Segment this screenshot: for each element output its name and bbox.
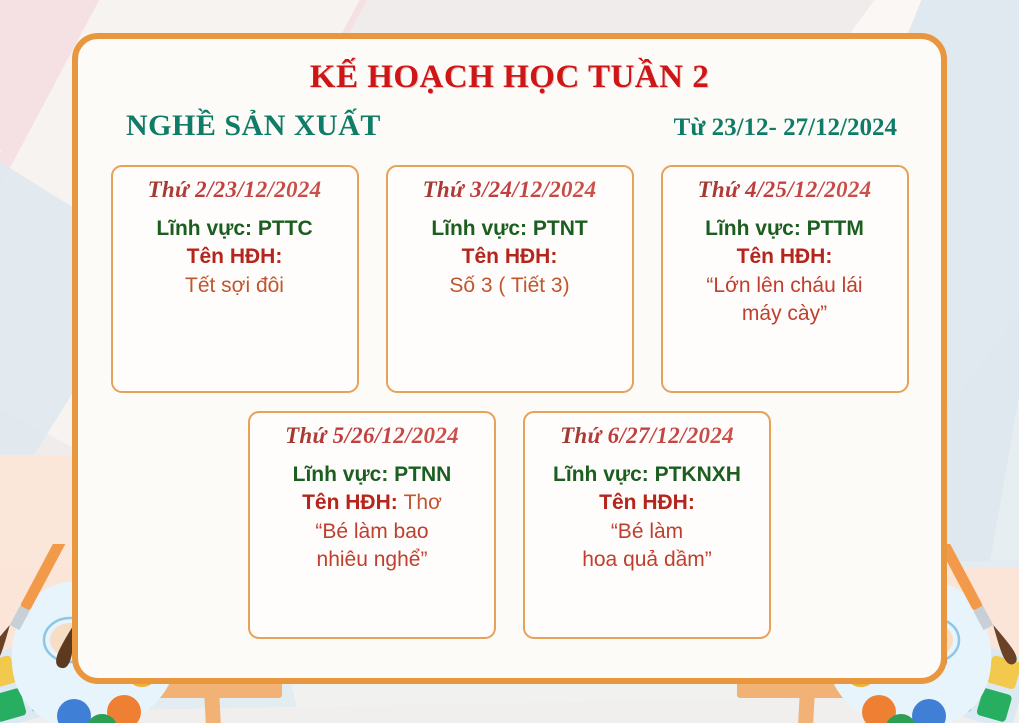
- poster-canvas: KẾ HOẠCH HỌC TUẦN 2 NGHỀ SẢN XUẤT Từ 23/…: [0, 0, 1019, 723]
- card-field-line: Lĩnh vực: PTTM: [673, 215, 897, 243]
- page-title: KẾ HOẠCH HỌC TUẦN 2: [78, 59, 941, 96]
- date-range: Từ 23/12- 27/12/2024: [674, 114, 897, 142]
- card-field-line: Lĩnh vực: PTTC: [123, 215, 347, 243]
- card-activity-label-text: Tên HĐH:: [302, 491, 398, 514]
- card-field-line: Lĩnh vực: PTKNXH: [535, 461, 759, 489]
- card-date: Thứ 3/24/12/2024: [398, 177, 622, 203]
- header-subline: NGHỀ SẢN XUẤT Từ 23/12- 27/12/2024: [78, 96, 941, 143]
- card-activity-label: Tên HĐH: Thơ: [260, 489, 484, 517]
- day-card-row-top: Thứ 2/23/12/2024 Lĩnh vực: PTTC Tên HĐH:…: [78, 165, 941, 393]
- day-card[interactable]: Thứ 3/24/12/2024 Lĩnh vực: PTNT Tên HĐH:…: [386, 165, 634, 393]
- card-activity-line: “Bé làm bao: [260, 518, 484, 546]
- card-field-line: Lĩnh vực: PTNN: [260, 461, 484, 489]
- card-field-line: Lĩnh vực: PTNT: [398, 215, 622, 243]
- day-card[interactable]: Thứ 5/26/12/2024 Lĩnh vực: PTNN Tên HĐH:…: [248, 411, 496, 639]
- card-activity-line: hoa quả dầm”: [535, 546, 759, 574]
- card-activity-line: Số 3 ( Tiết 3): [398, 272, 622, 300]
- card-activity-label: Tên HĐH:: [673, 243, 897, 271]
- plan-board: KẾ HOẠCH HỌC TUẦN 2 NGHỀ SẢN XUẤT Từ 23/…: [72, 33, 947, 684]
- subject-name: NGHỀ SẢN XUẤT: [126, 109, 381, 143]
- card-activity-line: Tết sợi đôi: [123, 272, 347, 300]
- day-card[interactable]: Thứ 6/27/12/2024 Lĩnh vực: PTKNXH Tên HĐ…: [523, 411, 771, 639]
- poster-header: KẾ HOẠCH HỌC TUẦN 2 NGHỀ SẢN XUẤT Từ 23/…: [78, 39, 941, 143]
- card-activity-line: máy cày”: [673, 300, 897, 328]
- day-card[interactable]: Thứ 2/23/12/2024 Lĩnh vực: PTTC Tên HĐH:…: [111, 165, 359, 393]
- card-activity-line: nhiêu nghể”: [260, 546, 484, 574]
- card-date: Thứ 4/25/12/2024: [673, 177, 897, 203]
- card-date: Thứ 5/26/12/2024: [260, 423, 484, 449]
- card-activity-line: “Lớn lên cháu lái: [673, 272, 897, 300]
- card-activity-inline-value: Thơ: [404, 491, 442, 514]
- card-activity-label: Tên HĐH:: [398, 243, 622, 271]
- card-date: Thứ 6/27/12/2024: [535, 423, 759, 449]
- day-card[interactable]: Thứ 4/25/12/2024 Lĩnh vực: PTTM Tên HĐH:…: [661, 165, 909, 393]
- day-card-row-bottom: Thứ 5/26/12/2024 Lĩnh vực: PTNN Tên HĐH:…: [78, 411, 941, 639]
- card-activity-line: “Bé làm: [535, 518, 759, 546]
- card-activity-label: Tên HĐH:: [123, 243, 347, 271]
- card-activity-label: Tên HĐH:: [535, 489, 759, 517]
- card-date: Thứ 2/23/12/2024: [123, 177, 347, 203]
